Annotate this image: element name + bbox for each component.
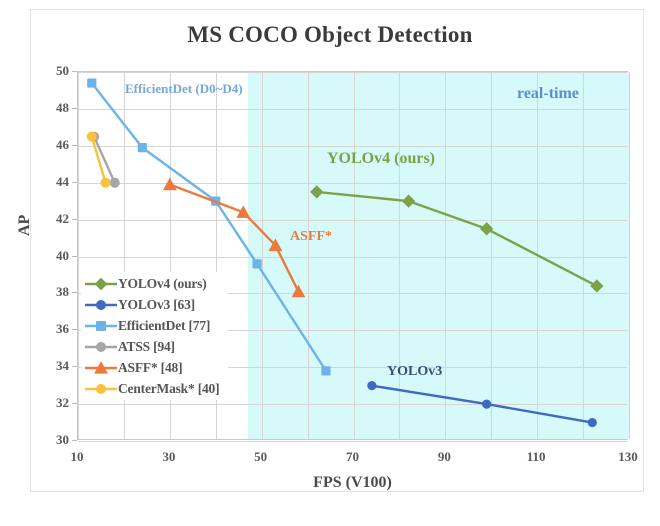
annotation-yolov4: YOLOv4 (ours) bbox=[327, 150, 435, 168]
y-tick-mark bbox=[72, 366, 77, 367]
legend: YOLOv4 (ours)YOLOv3 [63]EfficientDet [77… bbox=[81, 272, 228, 400]
x-tick-label: 50 bbox=[238, 449, 284, 465]
y-tick-mark bbox=[72, 329, 77, 330]
x-tick-label: 70 bbox=[330, 449, 376, 465]
data-point-marker bbox=[110, 178, 120, 188]
figure: MS COCO Object Detection FPS (V100) AP 5… bbox=[0, 0, 660, 526]
y-tick-mark bbox=[72, 219, 77, 220]
data-point-marker bbox=[482, 400, 491, 409]
data-point-marker bbox=[292, 285, 306, 298]
data-point-marker bbox=[310, 185, 323, 198]
y-tick-mark bbox=[72, 403, 77, 404]
legend-item-asff-48[interactable]: ASFF* [48] bbox=[81, 357, 228, 378]
legend-marker-square-icon bbox=[84, 318, 118, 334]
y-tick-mark bbox=[72, 440, 77, 441]
y-tick-mark bbox=[72, 145, 77, 146]
y-tick-mark bbox=[72, 292, 77, 293]
data-point-marker bbox=[367, 381, 376, 390]
series-centermask-40 bbox=[87, 132, 111, 188]
data-point-marker bbox=[588, 418, 597, 427]
x-tick-label: 110 bbox=[513, 449, 559, 465]
legend-item-yolov4-ours[interactable]: YOLOv4 (ours) bbox=[81, 273, 228, 294]
series-yolov3-63 bbox=[367, 381, 597, 427]
legend-label: EfficientDet [77] bbox=[118, 318, 210, 334]
data-point-marker bbox=[590, 279, 603, 292]
x-tick-label: 90 bbox=[421, 449, 467, 465]
y-tick-mark bbox=[72, 182, 77, 183]
annotation-efficientdet: EfficientDet (D0~D4) bbox=[125, 81, 243, 97]
data-point-marker bbox=[101, 178, 111, 188]
legend-label: YOLOv3 [63] bbox=[118, 297, 195, 313]
legend-item-centermask-40[interactable]: CenterMask* [40] bbox=[81, 378, 228, 399]
legend-marker-circle-icon bbox=[84, 381, 118, 397]
legend-label: ATSS [94] bbox=[118, 339, 175, 355]
gridline-horizontal bbox=[78, 441, 627, 442]
y-tick-label: 36 bbox=[29, 321, 69, 337]
y-tick-label: 32 bbox=[29, 395, 69, 411]
annotation-yolov3: YOLOv3 bbox=[387, 364, 442, 380]
x-tick-label: 130 bbox=[605, 449, 651, 465]
y-tick-label: 46 bbox=[29, 137, 69, 153]
legend-label: YOLOv4 (ours) bbox=[118, 276, 207, 292]
data-point-marker bbox=[480, 222, 493, 235]
y-tick-mark bbox=[72, 71, 77, 72]
y-tick-label: 48 bbox=[29, 100, 69, 116]
legend-item-yolov3-63[interactable]: YOLOv3 [63] bbox=[81, 294, 228, 315]
data-point-marker bbox=[87, 78, 96, 87]
legend-marker-diamond-icon bbox=[84, 276, 118, 292]
y-tick-mark bbox=[72, 108, 77, 109]
data-point-marker bbox=[402, 194, 415, 207]
legend-label: ASFF* [48] bbox=[118, 360, 182, 376]
y-tick-label: 34 bbox=[29, 358, 69, 374]
x-axis-title: FPS (V100) bbox=[77, 474, 628, 492]
gridline-vertical bbox=[629, 72, 630, 439]
y-tick-label: 50 bbox=[29, 63, 69, 79]
legend-marker-triangle-icon bbox=[84, 360, 118, 376]
series-line bbox=[317, 192, 597, 286]
x-tick-label: 10 bbox=[54, 449, 100, 465]
data-point-marker bbox=[138, 143, 147, 152]
y-tick-label: 40 bbox=[29, 248, 69, 264]
x-tick-label: 30 bbox=[146, 449, 192, 465]
y-tick-label: 30 bbox=[29, 432, 69, 448]
data-point-marker bbox=[163, 178, 177, 191]
y-tick-label: 42 bbox=[29, 211, 69, 227]
legend-marker-circle-icon bbox=[84, 339, 118, 355]
y-tick-label: 44 bbox=[29, 174, 69, 190]
y-tick-label: 38 bbox=[29, 284, 69, 300]
annotation-asff: ASFF* bbox=[290, 229, 332, 245]
data-point-marker bbox=[321, 366, 330, 375]
legend-item-atss-94[interactable]: ATSS [94] bbox=[81, 336, 228, 357]
data-point-marker bbox=[252, 259, 261, 268]
legend-item-efficientdet-77[interactable]: EfficientDet [77] bbox=[81, 315, 228, 336]
y-tick-mark bbox=[72, 256, 77, 257]
annotation-realtime: real-time bbox=[517, 85, 579, 103]
data-point-marker bbox=[87, 132, 97, 142]
legend-label: CenterMask* [40] bbox=[118, 381, 219, 397]
legend-marker-circle-icon bbox=[84, 297, 118, 313]
series-yolov4-ours bbox=[310, 185, 603, 292]
page-title: MS COCO Object Detection bbox=[0, 22, 660, 48]
